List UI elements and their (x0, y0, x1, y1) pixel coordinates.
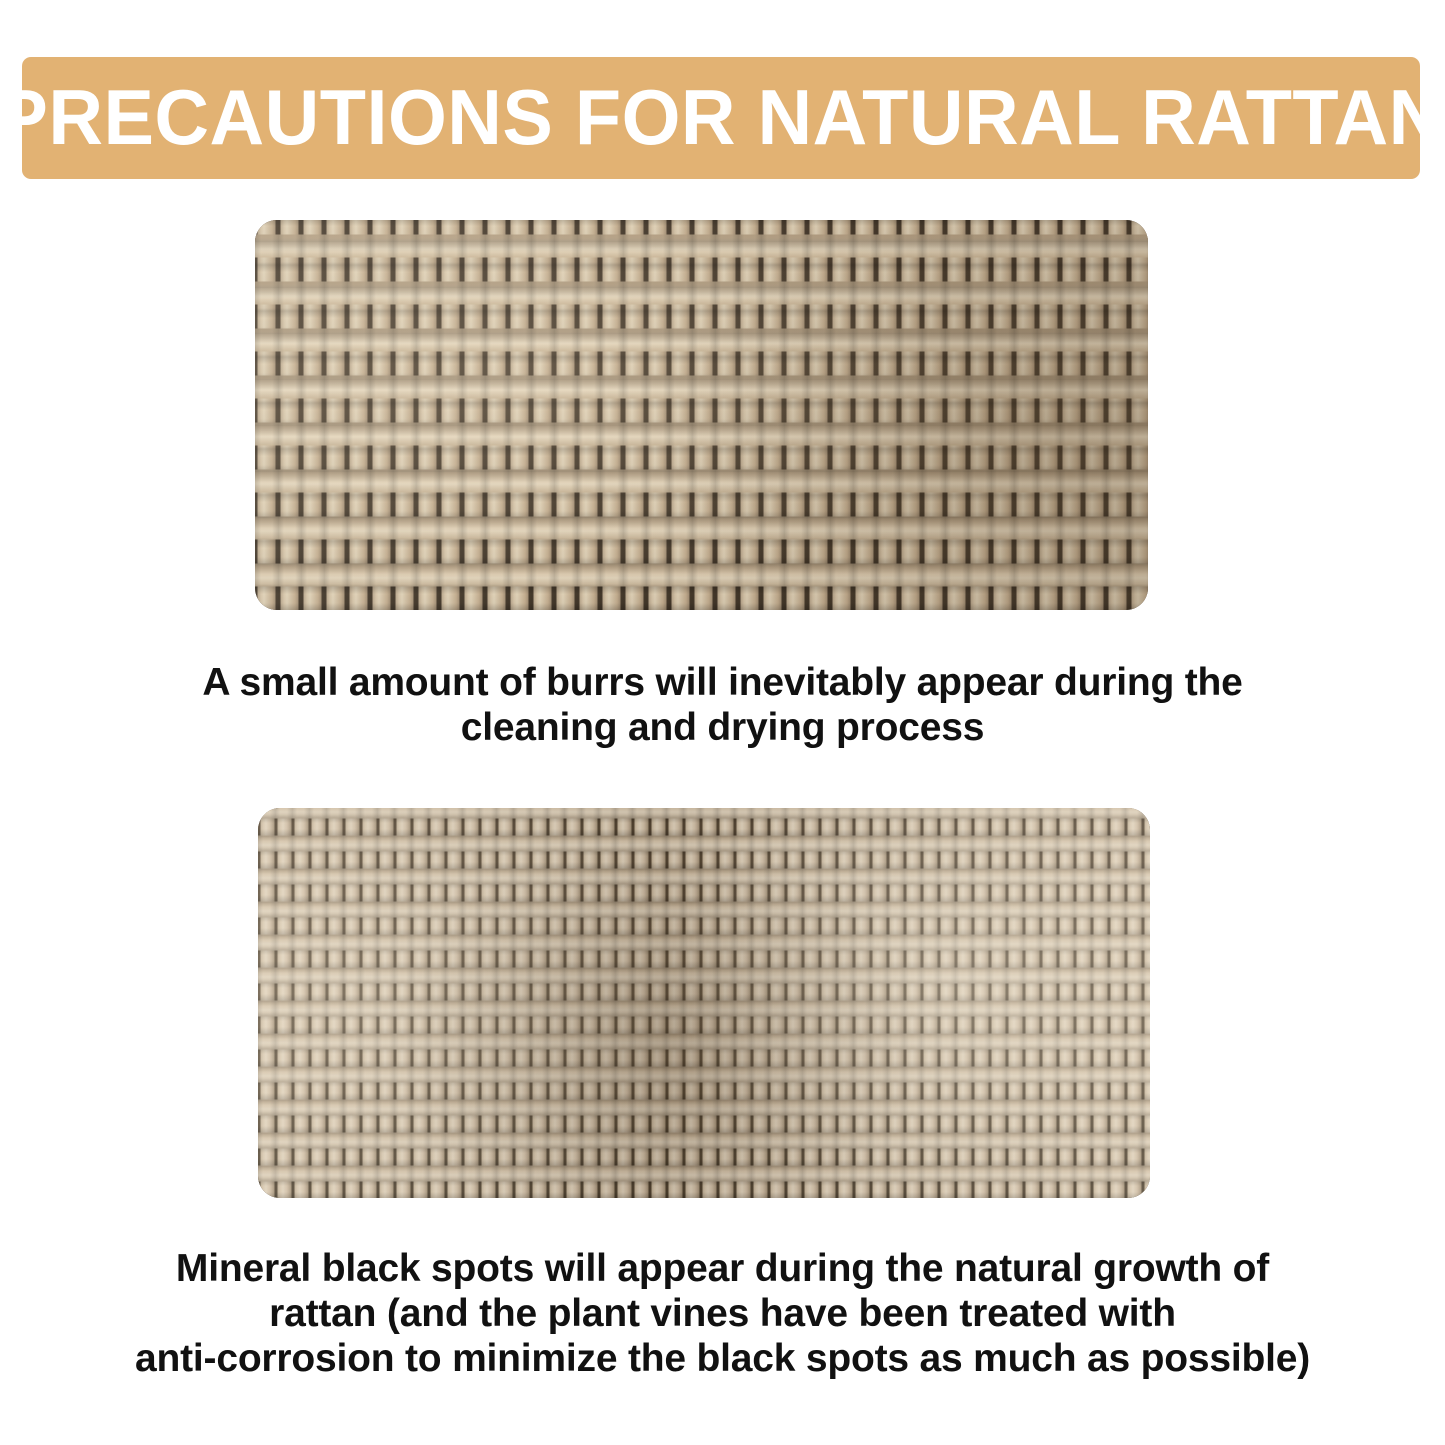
weave-tone-layer (258, 808, 1150, 1198)
weave-tone-layer (255, 220, 1148, 610)
caption-line: cleaning and drying process (0, 705, 1445, 750)
rattan-weave-black-spots-photo (258, 808, 1150, 1198)
caption-line: Mineral black spots will appear during t… (0, 1246, 1445, 1291)
caption-line: A small amount of burrs will inevitably … (0, 660, 1445, 705)
caption-burrs: A small amount of burrs will inevitably … (0, 660, 1445, 750)
rattan-weave-burrs-photo (255, 220, 1148, 610)
caption-line: anti-corrosion to minimize the black spo… (0, 1336, 1445, 1381)
caption-black-spots: Mineral black spots will appear during t… (0, 1246, 1445, 1381)
page-title: PRECAUTIONS FOR NATURAL RATTAN (0, 78, 1444, 156)
header-banner: PRECAUTIONS FOR NATURAL RATTAN (22, 57, 1420, 179)
caption-line: rattan (and the plant vines have been tr… (0, 1291, 1445, 1336)
